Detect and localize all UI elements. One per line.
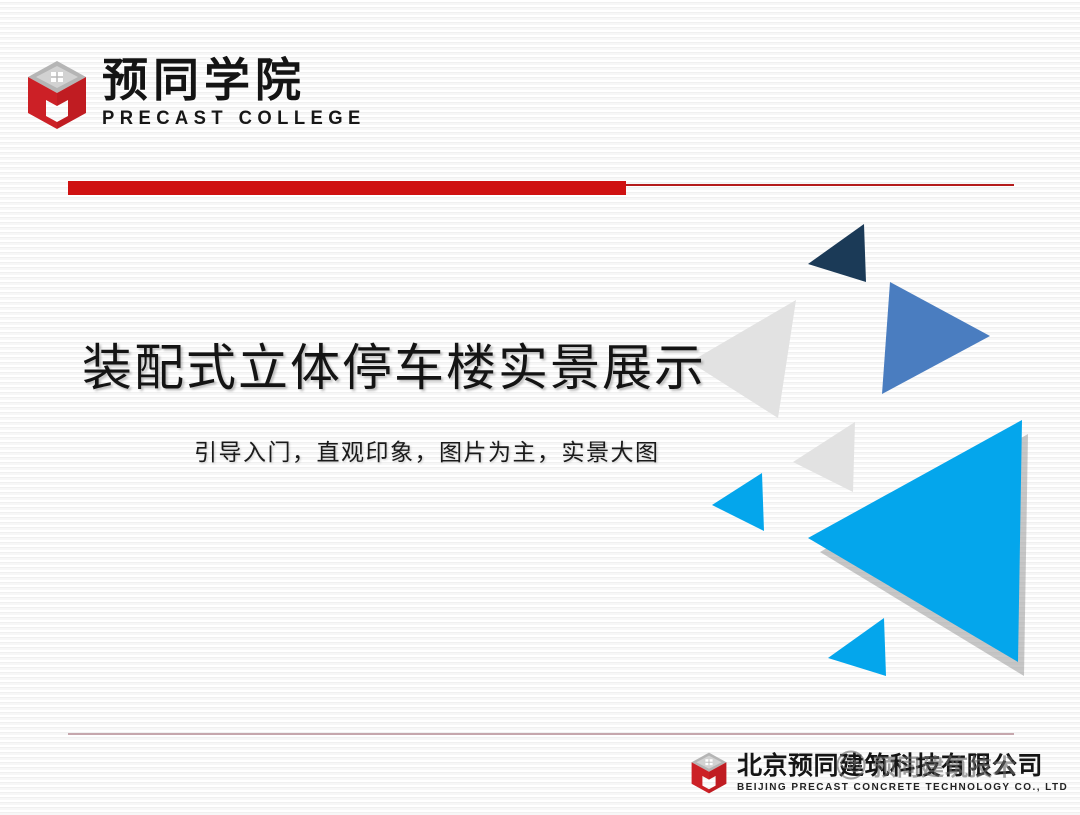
header-divider-bar — [68, 181, 626, 195]
brand-name-en: PRECAST COLLEGE — [102, 108, 366, 130]
watermark-text: 预同建筑技术 — [873, 748, 1017, 782]
header-brand: 预同学院 PRECAST COLLEGE — [26, 56, 374, 130]
company-name-en: BEIJING PRECAST CONCRETE TECHNOLOGY CO.,… — [737, 782, 1068, 793]
header-brand-text: 预同学院 PRECAST COLLEGE — [102, 56, 374, 130]
page-subtitle: 引导入门，直观印象，图片为主，实景大图 — [194, 433, 660, 467]
presentation-slide: 预同学院 PRECAST COLLEGE 装配式立体停车楼实景展示 引导入门，直… — [0, 0, 1080, 815]
footer-divider-line — [68, 733, 1014, 735]
watermark: 预同建筑技术 — [836, 748, 1017, 782]
brand-name-cn: 预同学院 — [102, 56, 374, 104]
precast-cube-logo-icon — [690, 752, 728, 794]
slide-content: 预同学院 PRECAST COLLEGE 装配式立体停车楼实景展示 引导入门，直… — [0, 0, 1080, 815]
page-title: 装配式立体停车楼实景展示 — [82, 328, 706, 400]
header-divider-line — [626, 184, 1014, 186]
precast-cube-logo-icon — [26, 60, 88, 130]
wechat-account-badge-icon — [836, 750, 866, 780]
